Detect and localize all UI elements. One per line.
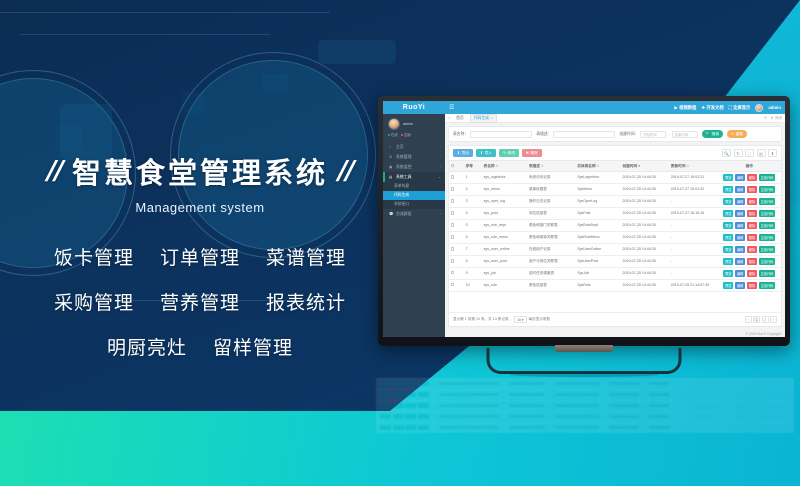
cell-operations: 预览编辑删除生成代码	[718, 207, 781, 219]
table-row[interactable]: 9sys_job定时任务调度表SysJob2019-07-25 14:44:30…	[449, 267, 781, 279]
table-toolbar: ⬇ 导出 ⬆ 导入 ✎ 修改	[449, 146, 781, 160]
chevron-down-icon: ⌄	[438, 175, 441, 179]
sidebar: admin 在线 注销 ⌂ 主页	[383, 114, 445, 337]
row-checkbox[interactable]	[449, 255, 464, 267]
cell-operations: 预览编辑删除生成代码	[718, 219, 781, 231]
reset-button-label: 重置	[736, 132, 743, 137]
page-button-1[interactable]: 1	[753, 316, 760, 323]
chevron-right-icon: ›	[440, 165, 441, 169]
cell-entity: SysMenu	[576, 183, 621, 195]
fullscreen-link[interactable]: ⛶ 全屏显示	[729, 105, 751, 111]
edit-button[interactable]: 编辑	[735, 270, 745, 277]
export-button[interactable]: ⬇ 导出	[453, 149, 473, 157]
tab-code-gen-label: 代码生成	[474, 116, 489, 121]
close-icon[interactable]: ×	[491, 116, 493, 120]
page-subtitle: Management system	[0, 200, 400, 215]
feature-list: 饭卡管理 订单管理 菜谱管理 采购管理 营养管理 报表统计 明厨亮灶 留样管理	[0, 243, 400, 360]
import-button-label: 导入	[485, 151, 492, 156]
col-ops: 操作	[718, 161, 781, 172]
cell-operations: 预览编辑删除生成代码	[718, 267, 781, 279]
feature-row: 明厨亮灶 留样管理	[107, 333, 293, 360]
cell-created: 2019-07-25 14:44:30	[621, 183, 669, 195]
delete-button[interactable]: 删除	[747, 246, 757, 253]
row-checkbox[interactable]	[449, 279, 464, 291]
sidebar-item-system-manage[interactable]: ⚙ 系统管理 ›	[383, 152, 445, 162]
dev-doc-label: 开发文档	[706, 105, 723, 111]
poster-stage: // 智慧食堂管理系统 // Management system 饭卡管理 订单…	[0, 0, 800, 486]
edit-button[interactable]: 编辑	[735, 222, 745, 229]
cell-updated: -	[669, 243, 717, 255]
slash-right: //	[338, 156, 353, 186]
feature-item: 明厨亮灶	[107, 333, 187, 360]
app-topbar: RuoYi ☰ ▶ 视频教程 ✚ 开发文档	[383, 101, 785, 114]
table-card: ⬇ 导出 ⬆ 导入 ✎ 修改	[448, 145, 782, 327]
monitor-icon: ▣	[389, 165, 393, 169]
generate-button[interactable]: 生成代码	[759, 258, 776, 265]
table-header-row: 序号 表名称⇅ 表描述⇅ 实体类名称⇅ 创建时间▾ 更新时间⇅ 操作	[449, 161, 781, 172]
sidebar-menu: ⌂ 主页 › ⚙ 系统管理 › ▣	[383, 142, 445, 219]
generate-button[interactable]: 生成代码	[759, 186, 776, 193]
sidebar-item-label: 系统管理	[396, 154, 412, 160]
page-size-select[interactable]: 10 ▾	[514, 316, 526, 323]
field-create-time: 创建时间： 开始时间 - 结束时间	[619, 131, 697, 138]
cell-created: 2019-07-25 14:44:30	[621, 255, 669, 267]
upload-icon: ⬆	[480, 151, 483, 155]
preview-button[interactable]: 预览	[723, 234, 733, 241]
cell-entity: SysRole	[576, 279, 621, 291]
edit-button[interactable]: 编辑	[735, 282, 745, 289]
cell-operations: 预览编辑删除生成代码	[718, 195, 781, 207]
pager-controls: ‹ 1 2 ›	[745, 316, 778, 323]
cell-entity: SysRoleMenu	[576, 231, 621, 243]
fullscreen-icon[interactable]: ⛶	[745, 149, 754, 157]
preview-button[interactable]: 预览	[723, 222, 733, 229]
row-checkbox[interactable]	[449, 207, 464, 219]
field-table-comment: 表描述：	[536, 131, 615, 138]
edit-button-label: 修改	[508, 151, 515, 156]
export-icon[interactable]: ⬆	[768, 149, 777, 157]
chevron-right-icon: ›	[440, 212, 441, 216]
table-row[interactable]: 7sys_user_online在线用户记录SysUserOnline2019-…	[449, 243, 781, 255]
cell-operations: 预览编辑删除生成代码	[718, 172, 781, 184]
edit-button[interactable]: 编辑	[735, 258, 745, 265]
feature-item: 采购管理	[54, 288, 134, 315]
decor-line-b	[20, 34, 270, 35]
cell-table-name: sys_role	[482, 279, 527, 291]
edit-button[interactable]: 编辑	[735, 246, 745, 253]
feature-item: 菜谱管理	[266, 243, 346, 270]
feature-row: 采购管理 营养管理 报表统计	[54, 288, 346, 315]
sidebar-item-system-monitor[interactable]: ▣ 系统监控 ›	[383, 162, 445, 172]
edit-button[interactable]: 编辑	[735, 234, 745, 241]
sidebar-item-chat-group[interactable]: 💬 交流群组 ›	[383, 209, 445, 219]
table-row[interactable]: 10sys_role角色信息表SysRole2019-07-25 14:44:3…	[449, 279, 781, 291]
cell-table-comment: 菜单权限表	[527, 183, 575, 195]
table-comment-input[interactable]	[553, 131, 615, 138]
row-checkbox[interactable]	[449, 195, 464, 207]
col-table-comment[interactable]: 表描述⇅	[527, 161, 575, 172]
cell-index: 10	[464, 279, 482, 291]
delete-button[interactable]: 删除	[747, 222, 757, 229]
cell-created: 2019-07-25 14:44:30	[621, 172, 669, 184]
monitor-bezel: RuoYi ☰ ▶ 视频教程 ✚ 开发文档	[378, 96, 790, 346]
monitor-stand-base	[487, 348, 682, 374]
cell-table-comment: 岗位信息表	[527, 207, 575, 219]
cell-table-name: sys_user_post	[482, 255, 527, 267]
cell-table-comment: 操作日志记录	[527, 195, 575, 207]
cell-table-comment: 角色和部门关联表	[527, 219, 575, 231]
cell-table-comment: 定时任务调度表	[527, 267, 575, 279]
cell-table-name: sys_job	[482, 267, 527, 279]
columns-icon[interactable]: ▤	[757, 149, 766, 157]
account-label[interactable]: admin	[768, 105, 781, 110]
preview-button[interactable]: 预览	[723, 174, 733, 181]
preview-button[interactable]: 预览	[723, 270, 733, 277]
cell-entity: SysRoleDept	[576, 219, 621, 231]
generate-button[interactable]: 生成代码	[759, 270, 776, 277]
pager-summary-prefix: 显示第 1 到第 10 条，共 14 条记录，	[453, 317, 512, 322]
generate-button[interactable]: 生成代码	[759, 246, 776, 253]
next-page-button[interactable]: ›	[770, 316, 777, 323]
cell-created: 2019-07-25 14:44:30	[621, 279, 669, 291]
hamburger-icon[interactable]: ☰	[449, 104, 454, 111]
edit-button[interactable]: 编辑	[735, 210, 745, 217]
cell-updated: -	[669, 267, 717, 279]
home-icon[interactable]: ⌂	[448, 116, 450, 120]
close-all-icon[interactable]: ⊗ 关闭	[771, 116, 782, 121]
reset-button[interactable]: ↻ 重置	[727, 130, 747, 138]
refresh-icon[interactable]: ↺	[764, 116, 767, 120]
cell-index: 8	[464, 255, 482, 267]
row-checkbox[interactable]	[449, 219, 464, 231]
search-row: 表名称： 表描述： 创建时间： 开始时间	[453, 130, 777, 138]
cell-index: 4	[464, 207, 482, 219]
cell-updated: -	[669, 195, 717, 207]
profile-status: 在线 注销	[388, 132, 440, 137]
row-checkbox[interactable]	[449, 172, 464, 184]
cell-index: 5	[464, 219, 482, 231]
row-checkbox[interactable]	[449, 243, 464, 255]
cell-index: 1	[464, 172, 482, 184]
pencil-icon: ✎	[503, 151, 506, 155]
headline-text: 智慧食堂管理系统	[72, 150, 328, 192]
generate-button[interactable]: 生成代码	[759, 234, 776, 241]
search-button[interactable]: 🔍 搜索	[702, 130, 723, 138]
feature-row: 饭卡管理 订单管理 菜谱管理	[54, 243, 346, 270]
cell-table-name: sys_user_online	[482, 243, 527, 255]
preview-button[interactable]: 预览	[723, 246, 733, 253]
chevron-right-icon: ›	[440, 155, 441, 159]
app-logo[interactable]: RuoYi	[383, 101, 445, 114]
tools-icon: ▤	[389, 175, 393, 179]
cell-entity: SysOperLog	[576, 195, 621, 207]
video-tutorial-link[interactable]: ▶ 视频教程	[674, 105, 696, 111]
row-checkbox[interactable]	[449, 183, 464, 195]
avatar[interactable]	[755, 104, 763, 112]
decor-rect-b	[318, 40, 396, 64]
delete-button-label: 删除	[531, 151, 538, 156]
refresh-icon[interactable]: ↻	[734, 149, 743, 157]
preview-button[interactable]: 预览	[723, 186, 733, 193]
chevron-right-icon: ›	[440, 145, 441, 149]
date-start-input[interactable]: 开始时间	[640, 131, 666, 138]
tabbar-right: ↺ ⊗ 关闭	[764, 116, 782, 121]
home-icon: ⌂	[389, 145, 393, 149]
delete-button[interactable]: 删除	[747, 186, 757, 193]
cell-updated: 2019-07-27 15:01:42	[669, 183, 717, 195]
generate-button[interactable]: 生成代码	[759, 210, 776, 217]
cell-operations: 预览编辑删除生成代码	[718, 279, 781, 291]
cell-table-name: sys_logininfor	[482, 172, 527, 184]
col-updated[interactable]: 更新时间⇅	[669, 161, 717, 172]
app-body: admin 在线 注销 ⌂ 主页	[383, 114, 785, 337]
edit-button[interactable]: ✎ 修改	[499, 149, 519, 157]
edit-button[interactable]: 编辑	[735, 186, 745, 193]
prev-page-button[interactable]: ‹	[745, 316, 752, 323]
delete-button[interactable]: 删除	[747, 174, 757, 181]
cell-updated: 2019-07-27 15:02:21	[669, 172, 717, 184]
status-logout[interactable]: 注销	[401, 132, 411, 137]
profile-avatar[interactable]	[388, 118, 400, 130]
cell-entity: SysJob	[576, 267, 621, 279]
cell-created: 2019-07-25 14:44:30	[621, 207, 669, 219]
sidebar-item-label: 交流群组	[396, 211, 412, 217]
download-icon: ⬇	[457, 151, 460, 155]
delete-button[interactable]: 删除	[747, 198, 757, 205]
cell-updated: 2019-07-27 16:16:15	[669, 207, 717, 219]
cell-table-comment: 角色和菜单关联表	[527, 231, 575, 243]
ruoyi-app: RuoYi ☰ ▶ 视频教程 ✚ 开发文档	[383, 101, 785, 337]
sidebar-item-label: 主页	[396, 144, 404, 150]
field-table-name: 表名称：	[453, 131, 532, 138]
feature-item: 报表统计	[266, 288, 346, 315]
col-created[interactable]: 创建时间▾	[621, 161, 669, 172]
generate-button[interactable]: 生成代码	[759, 198, 776, 205]
preview-button[interactable]: 预览	[723, 210, 733, 217]
cell-operations: 预览编辑删除生成代码	[718, 243, 781, 255]
generate-button[interactable]: 生成代码	[759, 174, 776, 181]
preview-button[interactable]: 预览	[723, 282, 733, 289]
cell-operations: 预览编辑删除生成代码	[718, 231, 781, 243]
cell-table-name: sys_role_menu	[482, 231, 527, 243]
sidebar-submenu: 表单构建 代码生成 系统接口	[383, 182, 445, 209]
delete-button[interactable]: 删除	[747, 270, 757, 277]
col-index[interactable]: 序号	[464, 161, 482, 172]
profile-name: admin	[403, 122, 413, 126]
page-title: // 智慧食堂管理系统 //	[0, 150, 400, 192]
cell-table-name: sys_role_dept	[482, 219, 527, 231]
search-panel: 表名称： 表描述： 创建时间： 开始时间	[448, 126, 782, 142]
toolbar-icon-group: 🔍 ↻ ⛶ ▤ ⬆	[722, 149, 777, 157]
row-checkbox[interactable]	[449, 267, 464, 279]
col-select[interactable]	[449, 161, 464, 172]
row-checkbox[interactable]	[449, 231, 464, 243]
delete-button[interactable]: 删除	[747, 282, 757, 289]
monitor-screen: RuoYi ☰ ▶ 视频教程 ✚ 开发文档	[383, 101, 785, 337]
cell-created: 2019-07-25 14:44:30	[621, 219, 669, 231]
sidebar-item-system-tools[interactable]: ▤ 系统工具 ⌄	[383, 172, 445, 182]
feature-item: 营养管理	[160, 288, 240, 315]
edit-button[interactable]: 编辑	[735, 198, 745, 205]
delete-button[interactable]: 删除	[747, 210, 757, 217]
col-table-name[interactable]: 表名称⇅	[482, 161, 527, 172]
table-row[interactable]: 3sys_oper_log操作日志记录SysOperLog2019-07-25 …	[449, 195, 781, 207]
table-row[interactable]: 4sys_post岗位信息表SysPost2019-07-25 14:44:30…	[449, 207, 781, 219]
sidebar-item-code-gen[interactable]: 代码生成	[383, 191, 445, 200]
cell-operations: 预览编辑删除生成代码	[718, 255, 781, 267]
edit-button[interactable]: 编辑	[735, 174, 745, 181]
table-row[interactable]: 2sys_menu菜单权限表SysMenu2019-07-25 14:44:30…	[449, 183, 781, 195]
cell-entity: SysPost	[576, 207, 621, 219]
sidebar-item-home[interactable]: ⌂ 主页 ›	[383, 142, 445, 152]
gen-table: 序号 表名称⇅ 表描述⇅ 实体类名称⇅ 创建时间▾ 更新时间⇅ 操作	[449, 160, 781, 292]
video-icon: ▶	[674, 105, 677, 111]
decor-rect-d	[182, 92, 204, 114]
sidebar-item-label: 系统监控	[396, 164, 412, 170]
generate-button[interactable]: 生成代码	[759, 282, 776, 289]
cell-table-comment: 在线用户记录	[527, 243, 575, 255]
profile-top: admin	[388, 118, 440, 130]
date-end-input[interactable]: 结束时间	[672, 131, 698, 138]
delete-button[interactable]: ✖ 删除	[522, 149, 542, 157]
cell-updated: -	[669, 219, 717, 231]
cell-index: 9	[464, 267, 482, 279]
cell-updated: -	[669, 231, 717, 243]
decor-rect-e	[262, 74, 288, 92]
cell-index: 3	[464, 195, 482, 207]
cog-icon: ⚙	[389, 155, 393, 159]
fullscreen-icon: ⛶	[729, 105, 732, 110]
refresh-icon: ↻	[731, 132, 734, 136]
fullscreen-label: 全屏显示	[733, 105, 750, 111]
tab-home[interactable]: 首页	[453, 115, 467, 122]
table-name-input[interactable]	[470, 131, 532, 138]
cell-table-comment: 角色信息表	[527, 279, 575, 291]
cell-updated: 2019-07-25 21:14:57:35	[669, 279, 717, 291]
sidebar-item-label: 系统工具	[396, 174, 412, 180]
cell-updated: -	[669, 255, 717, 267]
cell-index: 7	[464, 243, 482, 255]
feature-item: 订单管理	[160, 243, 240, 270]
sidebar-profile: admin 在线 注销	[383, 114, 445, 142]
video-tutorial-label: 视频教程	[679, 105, 696, 111]
table-name-label: 表名称：	[453, 132, 468, 137]
feature-item: 饭卡管理	[54, 243, 134, 270]
content-area: ⌂ 首页 代码生成 × ↺ ⊗ 关闭	[445, 114, 785, 337]
topbar-main: ☰ ▶ 视频教程 ✚ 开发文档 ⛶	[445, 101, 785, 114]
table-row[interactable]: 8sys_user_post用户与岗位关联表SysUserPost2019-07…	[449, 255, 781, 267]
sidebar-item-form-builder[interactable]: 表单构建	[383, 182, 445, 191]
monitor: RuoYi ☰ ▶ 视频教程 ✚ 开发文档	[378, 96, 790, 346]
table-comment-label: 表描述：	[536, 132, 551, 137]
export-button-label: 导出	[462, 151, 469, 156]
cell-entity: SysLogininfor	[576, 172, 621, 184]
pagination: 显示第 1 到第 10 条，共 14 条记录， 10 ▾ 每页显示条数 ‹ 1 …	[449, 312, 781, 326]
col-entity[interactable]: 实体类名称⇅	[576, 161, 621, 172]
sidebar-item-system-api[interactable]: 系统接口	[383, 200, 445, 209]
cell-index: 6	[464, 231, 482, 243]
cell-table-comment: 系统访问记录	[527, 172, 575, 184]
feature-item: 留样管理	[213, 333, 293, 360]
delete-button[interactable]: 删除	[747, 258, 757, 265]
cell-table-name: sys_oper_log	[482, 195, 527, 207]
tab-code-gen[interactable]: 代码生成 ×	[470, 114, 497, 123]
table-row[interactable]: 1sys_logininfor系统访问记录SysLogininfor2019-0…	[449, 172, 781, 184]
cell-entity: SysUserPost	[576, 255, 621, 267]
date-separator: -	[668, 132, 669, 136]
poster-headline-block: // 智慧食堂管理系统 // Management system 饭卡管理 订单…	[0, 150, 400, 360]
search-icon[interactable]: 🔍	[722, 149, 731, 157]
monitor-shadow	[509, 372, 659, 377]
decor-line-a	[0, 12, 330, 13]
preview-button[interactable]: 预览	[723, 258, 733, 265]
cell-created: 2019-07-25 14:44:30	[621, 267, 669, 279]
book-icon: ✚	[701, 105, 705, 111]
cross-icon: ✖	[526, 151, 529, 155]
cell-table-name: sys_menu	[482, 183, 527, 195]
generate-button[interactable]: 生成代码	[759, 222, 776, 229]
cell-index: 2	[464, 183, 482, 195]
pager-summary-suffix: 每页显示条数	[529, 317, 551, 322]
cell-table-name: sys_post	[482, 207, 527, 219]
cell-table-comment: 用户与岗位关联表	[527, 255, 575, 267]
table-row[interactable]: 6sys_role_menu角色和菜单关联表SysRoleMenu2019-07…	[449, 231, 781, 243]
cell-created: 2019-07-25 14:44:30	[621, 195, 669, 207]
chat-icon: 💬	[389, 212, 393, 216]
import-button[interactable]: ⬆ 导入	[476, 149, 496, 157]
footer-copyright: © 2019 RuoYi Copyright	[445, 330, 785, 337]
tabbar: ⌂ 首页 代码生成 × ↺ ⊗ 关闭	[445, 114, 785, 123]
page-button-2[interactable]: 2	[762, 316, 769, 323]
select-all-checkbox[interactable]	[451, 164, 455, 168]
table-row[interactable]: 5sys_role_dept角色和部门关联表SysRoleDept2019-07…	[449, 219, 781, 231]
cell-created: 2019-07-25 14:44:30	[621, 231, 669, 243]
cell-operations: 预览编辑删除生成代码	[718, 183, 781, 195]
cell-entity: SysUserOnline	[576, 243, 621, 255]
decor-rect-c	[56, 126, 82, 152]
dev-doc-link[interactable]: ✚ 开发文档	[701, 105, 723, 111]
delete-button[interactable]: 删除	[747, 234, 757, 241]
create-time-label: 创建时间：	[619, 132, 638, 137]
search-button-label: 搜索	[712, 132, 719, 137]
status-online[interactable]: 在线	[388, 132, 398, 137]
preview-button[interactable]: 预览	[723, 198, 733, 205]
search-icon: 🔍	[706, 132, 711, 136]
slash-left: //	[47, 156, 62, 186]
cell-created: 2019-07-25 14:44:30	[621, 243, 669, 255]
